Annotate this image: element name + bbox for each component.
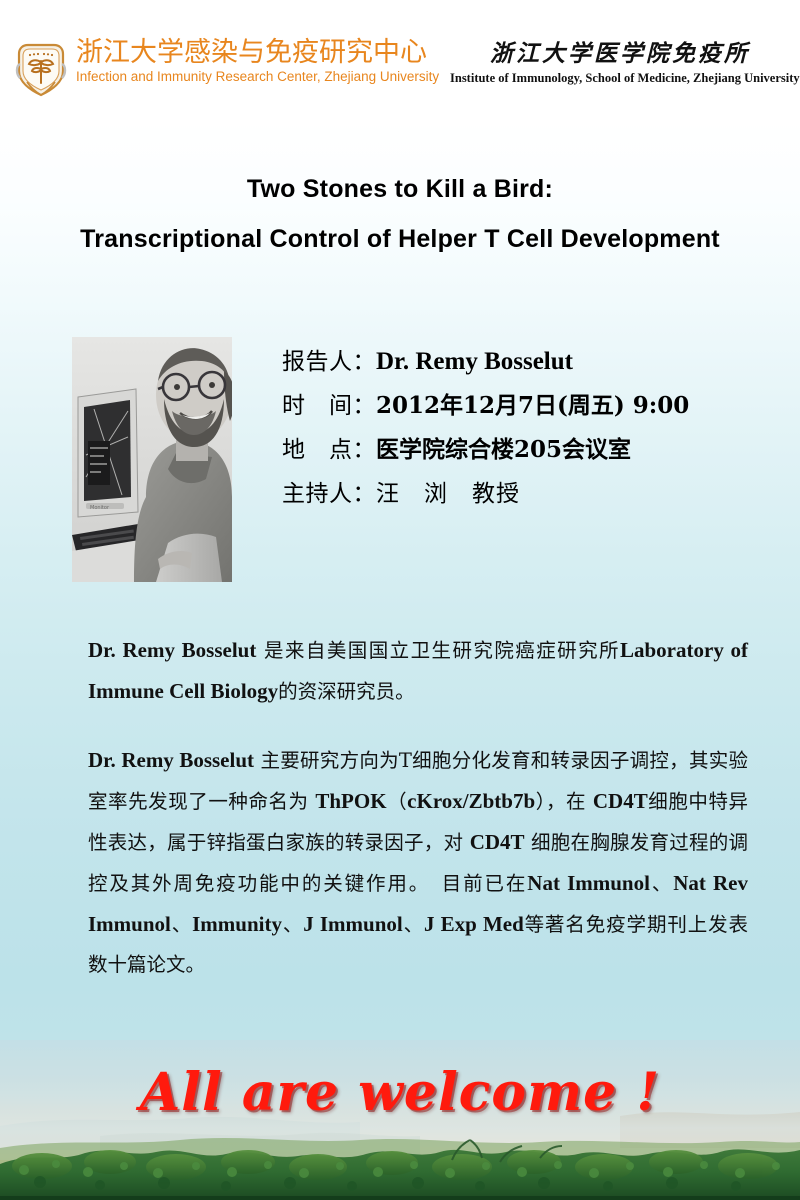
journal-j-exp-med: J Exp Med <box>424 912 524 936</box>
detail-value-time: 2012年12月7日(周五) 9:00 <box>376 392 689 419</box>
research-name: Dr. Remy Bosselut <box>88 748 254 772</box>
event-details: 报告人：Dr. Remy Bosselut 时 间：2012年12月7日(周五)… <box>282 340 782 516</box>
detail-row-venue: 地 点：医学院综合楼205会议室 <box>282 428 782 472</box>
research-center-logo: 浙江大学感染与免疫研究中心 Infection and Immunity Res… <box>14 38 439 98</box>
footer-landscape-image <box>0 1040 800 1200</box>
detail-row-host: 主持人：汪 浏 教授 <box>282 472 782 516</box>
speaker-photo: Monitor <box>72 337 232 582</box>
research-marker-cd4t-1: CD4T <box>593 789 648 813</box>
research-gene-ckrox: cKrox/Zbtb7b <box>407 789 535 813</box>
research-center-name-en: Infection and Immunity Research Center, … <box>76 69 439 85</box>
svg-text:Monitor: Monitor <box>90 505 110 511</box>
detail-value-venue: 医学院综合楼205会议室 <box>376 436 631 463</box>
bio-text-2: 的资深研究员。 <box>278 680 415 703</box>
bio-text-1: 是来自美国国立卫生研究院癌症研究所 <box>256 639 620 662</box>
detail-label-host: 主持人： <box>282 481 376 507</box>
journal-sep-1: 、 <box>650 872 673 895</box>
paragraph-research: Dr. Remy Bosselut 主要研究方向为T细胞分化发育和转录因子调控，… <box>88 740 748 985</box>
seminar-poster: 浙江大学感染与免疫研究中心 Infection and Immunity Res… <box>0 0 800 1200</box>
title-line-1: Two Stones to Kill a Bird: <box>0 164 800 214</box>
research-center-logo-text: 浙江大学感染与免疫研究中心 Infection and Immunity Res… <box>76 38 439 85</box>
title-line-2: Transcriptional Control of Helper T Cell… <box>0 214 800 264</box>
detail-value-host: 汪 浏 教授 <box>376 481 520 507</box>
research-text-3: ），在 <box>535 790 593 813</box>
detail-label-speaker: 报告人： <box>282 349 376 375</box>
journal-j-immunol: J Immunol <box>303 912 402 936</box>
detail-value-speaker: Dr. Remy Bosselut <box>376 348 573 375</box>
research-text-2: （ <box>387 790 408 813</box>
journal-immunity: Immunity <box>192 912 282 936</box>
shield-crest-icon <box>14 38 68 98</box>
page-title: Two Stones to Kill a Bird: Transcription… <box>0 164 800 264</box>
poster-body: Dr. Remy Bosselut 是来自美国国立卫生研究院癌症研究所Labor… <box>88 630 748 1013</box>
detail-label-venue: 地 点： <box>282 437 376 463</box>
institute-name-en: Institute of Immunology, School of Medic… <box>450 71 790 86</box>
detail-label-time: 时 间： <box>282 393 376 419</box>
research-center-name-cn: 浙江大学感染与免疫研究中心 <box>76 38 439 68</box>
journal-sep-3: 、 <box>282 913 303 936</box>
journal-nat-immunol: Nat Immunol <box>527 871 650 895</box>
paragraph-bio: Dr. Remy Bosselut 是来自美国国立卫生研究院癌症研究所Labor… <box>88 630 748 712</box>
journal-sep-4: 、 <box>403 913 424 936</box>
research-marker-cd4t-2: CD4T <box>470 830 525 854</box>
detail-row-time: 时 间：2012年12月7日(周五) 9:00 <box>282 384 782 428</box>
journal-sep-2: 、 <box>171 913 192 936</box>
detail-row-speaker: 报告人：Dr. Remy Bosselut <box>282 340 782 384</box>
poster-header: 浙江大学感染与免疫研究中心 Infection and Immunity Res… <box>0 0 800 112</box>
bio-name: Dr. Remy Bosselut <box>88 638 256 662</box>
institute-name-cn: 浙江大学医学院免疫所 <box>450 40 790 68</box>
research-gene-thpok: ThPOK <box>315 789 386 813</box>
institute-logo: 浙江大学医学院免疫所 Institute of Immunology, Scho… <box>450 40 790 86</box>
